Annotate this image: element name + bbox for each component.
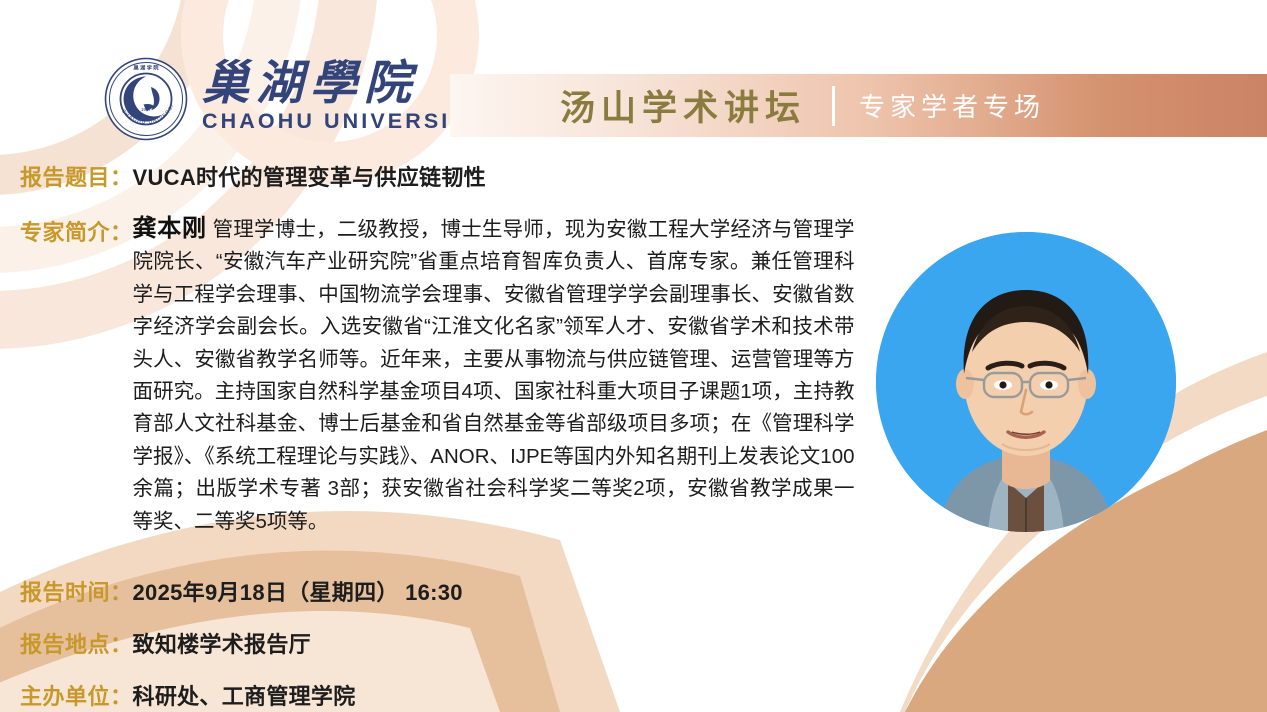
report-title-label: 报告题目： [20,160,133,192]
speaker-bio-paragraph: 管理学博士，二级教授，博士生导师，现为安徽工程大学经济与管理学院院长、“安徽汽车… [133,218,855,533]
speaker-name: 龚本刚 [133,215,207,242]
university-logo: 1977 巢 湖 学 院 CHAOHU UNIVERSITY 巢湖學院 CHAO… [104,57,484,141]
speaker-portrait [876,232,1176,532]
svg-text:巢 湖 学 院: 巢 湖 学 院 [132,63,159,71]
report-time-row: 报告时间： 2025年9月18日（星期四） 16:30 [20,575,463,607]
report-time-label: 报告时间： [20,575,133,607]
report-place-label: 报告地点： [20,627,133,659]
wordmark-chinese: 巢湖學院 [202,59,484,108]
svg-text:1977: 1977 [141,107,152,112]
report-place-value: 致知楼学术报告厅 [133,627,311,659]
poster-canvas: 1977 巢 湖 学 院 CHAOHU UNIVERSITY 巢湖學院 CHAO… [0,0,1267,712]
banner-subtitle: 专家学者专场 [859,87,1045,124]
forum-banner: 汤山学术讲坛 专家学者专场 [450,74,1267,137]
wordmark-english: CHAOHU UNIVERSITY [202,109,484,134]
chaohu-university-seal-icon: 1977 巢 湖 学 院 CHAOHU UNIVERSITY [104,57,188,141]
banner-divider-line [832,86,835,126]
report-title-value: VUCA时代的管理变革与供应链韧性 [133,160,486,192]
report-time-value: 2025年9月18日（星期四） 16:30 [133,575,463,607]
report-host-row: 主办单位： 科研处、工商管理学院 [20,679,356,711]
report-host-label: 主办单位： [20,679,133,711]
report-host-value: 科研处、工商管理学院 [133,679,356,711]
speaker-bio-row: 专家简介： 龚本刚 管理学博士，二级教授，博士生导师，现为安徽工程大学经济与管理… [20,213,880,538]
university-wordmark: 巢湖學院 CHAOHU UNIVERSITY [202,57,484,134]
report-title-row: 报告题目： VUCA时代的管理变革与供应链韧性 [20,160,486,192]
poster-header: 1977 巢 湖 学 院 CHAOHU UNIVERSITY 巢湖學院 CHAO… [0,0,1267,150]
speaker-bio-text: 龚本刚 管理学博士，二级教授，博士生导师，现为安徽工程大学经济与管理学院院长、“… [133,213,855,538]
banner-main-title: 汤山学术讲坛 [560,80,806,131]
speaker-bio-label: 专家简介： [20,213,133,247]
report-place-row: 报告地点： 致知楼学术报告厅 [20,627,311,659]
